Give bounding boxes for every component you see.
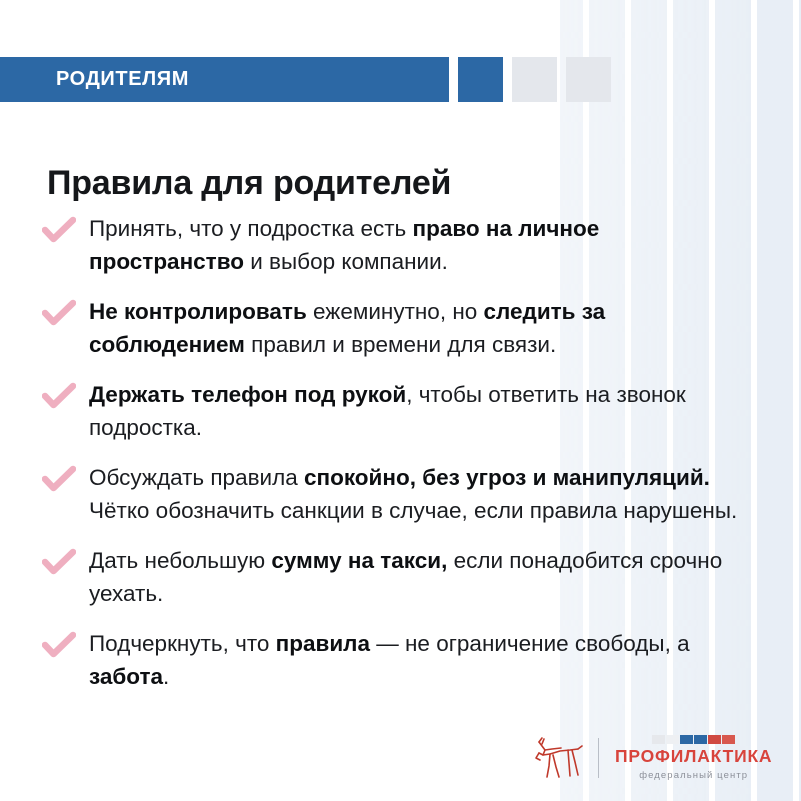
brand-name: ПРОФИЛАКТИКА (615, 748, 772, 766)
logo-swatch-1 (652, 735, 665, 744)
rule-item: Подчеркнуть, что правила — не ограничени… (42, 627, 742, 693)
logo-swatch-5 (708, 735, 721, 744)
horse-line-art-icon (530, 733, 586, 783)
rule-item: Обсуждать правила спокойно, без угроз и … (42, 461, 742, 527)
check-icon (42, 631, 76, 661)
rule-text: Держать телефон под рукой, чтобы ответит… (89, 378, 742, 444)
rules-list: Принять, что у подростка есть право на л… (42, 212, 742, 693)
logo-swatch-4 (694, 735, 707, 744)
footer-logo: ПРОФИЛАКТИКА федеральный центр (530, 731, 772, 785)
rule-text: Обсуждать правила спокойно, без угроз и … (89, 461, 742, 527)
logo-divider (598, 738, 599, 778)
header-square-blue (458, 57, 503, 102)
rule-text: Дать небольшую сумму на такси, если пона… (89, 544, 742, 610)
brand-subtitle: федеральный центр (639, 770, 748, 781)
check-icon (42, 216, 76, 246)
check-icon (42, 465, 76, 495)
rule-item: Не контролировать ежеминутно, но следить… (42, 295, 742, 361)
rule-item: Принять, что у подростка есть право на л… (42, 212, 742, 278)
rule-text: Подчеркнуть, что правила — не ограничени… (89, 627, 742, 693)
logo-swatch-3 (680, 735, 693, 744)
check-icon (42, 299, 76, 329)
rule-item: Дать небольшую сумму на такси, если пона… (42, 544, 742, 610)
rule-text: Принять, что у подростка есть право на л… (89, 212, 742, 278)
page-title: Правила для родителей (47, 164, 451, 203)
rule-text: Не контролировать ежеминутно, но следить… (89, 295, 742, 361)
poster-root: РОДИТЕЛЯМ Правила для родителей Принять,… (0, 0, 801, 801)
header-square-grey-2 (566, 57, 611, 102)
check-icon (42, 382, 76, 412)
logo-color-swatches (652, 735, 735, 744)
logo-textblock: ПРОФИЛАКТИКА федеральный центр (615, 735, 772, 781)
header-badge: РОДИТЕЛЯМ (0, 57, 449, 102)
header: РОДИТЕЛЯМ (0, 57, 611, 102)
logo-swatch-6 (722, 735, 735, 744)
logo-swatch-2 (666, 735, 679, 744)
check-icon (42, 548, 76, 578)
header-square-grey-1 (512, 57, 557, 102)
header-badge-label: РОДИТЕЛЯМ (56, 68, 189, 91)
rule-item: Держать телефон под рукой, чтобы ответит… (42, 378, 742, 444)
